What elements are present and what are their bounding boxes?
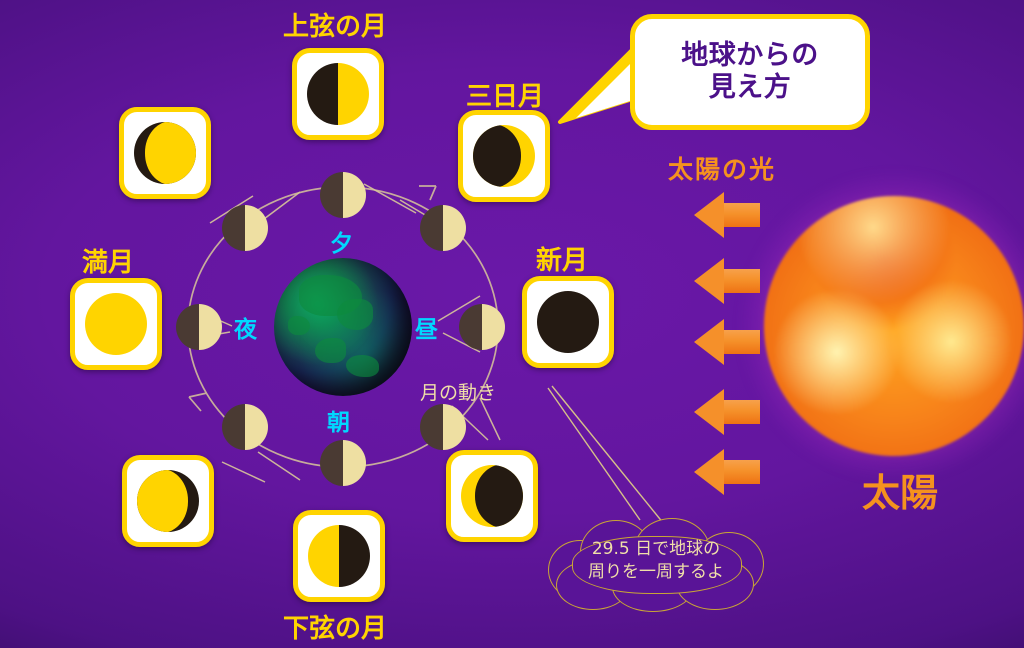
direction-label-morning: 朝 bbox=[327, 403, 350, 437]
phase-card-new-moon[interactable] bbox=[522, 276, 614, 368]
phase-card-waxing-gibbous[interactable] bbox=[119, 107, 211, 199]
moon-disc-last-quarter bbox=[308, 525, 370, 587]
moon-disc-first-quarter bbox=[307, 63, 369, 125]
orbit-moon-full bbox=[176, 304, 222, 350]
direction-label-evening: 夕 bbox=[330, 224, 353, 258]
phase-label-full-moon: 満月 bbox=[82, 242, 134, 279]
phase-card-waning-crescent[interactable] bbox=[446, 450, 538, 542]
orbit-moon-new bbox=[459, 304, 505, 350]
moon-phase-diagram: 太陽 太陽の光 bbox=[0, 0, 1024, 648]
phase-card-waxing-crescent[interactable] bbox=[458, 110, 550, 202]
orbit-moon-waning-crescent bbox=[420, 404, 466, 450]
orbit-note-line-2: 周りを一周するよ bbox=[588, 562, 724, 582]
phase-label-waxing-crescent: 三日月 bbox=[466, 76, 544, 113]
moon-disc-full-moon bbox=[85, 293, 147, 355]
phase-label-new-moon: 新月 bbox=[536, 240, 588, 277]
orbit-note-cloud[interactable]: 29.5 日で地球の 周りを一周するよ bbox=[548, 518, 764, 610]
phase-card-first-quarter[interactable] bbox=[292, 48, 384, 140]
orbit-note-line-1: 29.5 日で地球の bbox=[592, 539, 720, 559]
orbit-moon-waxing-crescent bbox=[420, 205, 466, 251]
moon-motion-label: 月の動き bbox=[420, 378, 496, 405]
orbit-moon-first-quarter bbox=[320, 172, 366, 218]
direction-label-noon: 昼 bbox=[415, 310, 438, 344]
earth-globe bbox=[274, 258, 412, 396]
moon-disc-waning-crescent bbox=[461, 465, 523, 527]
orbit-moon-last-quarter bbox=[320, 440, 366, 486]
phase-label-first-quarter: 上弦の月 bbox=[283, 6, 387, 43]
callout-line-1: 地球からの bbox=[681, 40, 819, 72]
moon-disc-waxing-gibbous bbox=[134, 122, 196, 184]
orbit-note-text: 29.5 日で地球の 周りを一周するよ bbox=[548, 538, 764, 584]
moon-disc-waning-gibbous bbox=[137, 470, 199, 532]
phase-label-last-quarter: 下弦の月 bbox=[283, 608, 387, 645]
phase-card-full-moon[interactable] bbox=[70, 278, 162, 370]
orbit-moon-waning-gibbous bbox=[222, 404, 268, 450]
phase-card-waning-gibbous[interactable] bbox=[122, 455, 214, 547]
orbit-moon-waxing-gibbous bbox=[222, 205, 268, 251]
moon-disc-new-moon bbox=[537, 291, 599, 353]
direction-label-night: 夜 bbox=[234, 310, 257, 344]
callout-line-2: 見え方 bbox=[709, 72, 792, 104]
moon-disc-waxing-crescent bbox=[473, 125, 535, 187]
callout-bubble[interactable]: 地球からの 見え方 bbox=[630, 14, 870, 130]
phase-card-last-quarter[interactable] bbox=[293, 510, 385, 602]
